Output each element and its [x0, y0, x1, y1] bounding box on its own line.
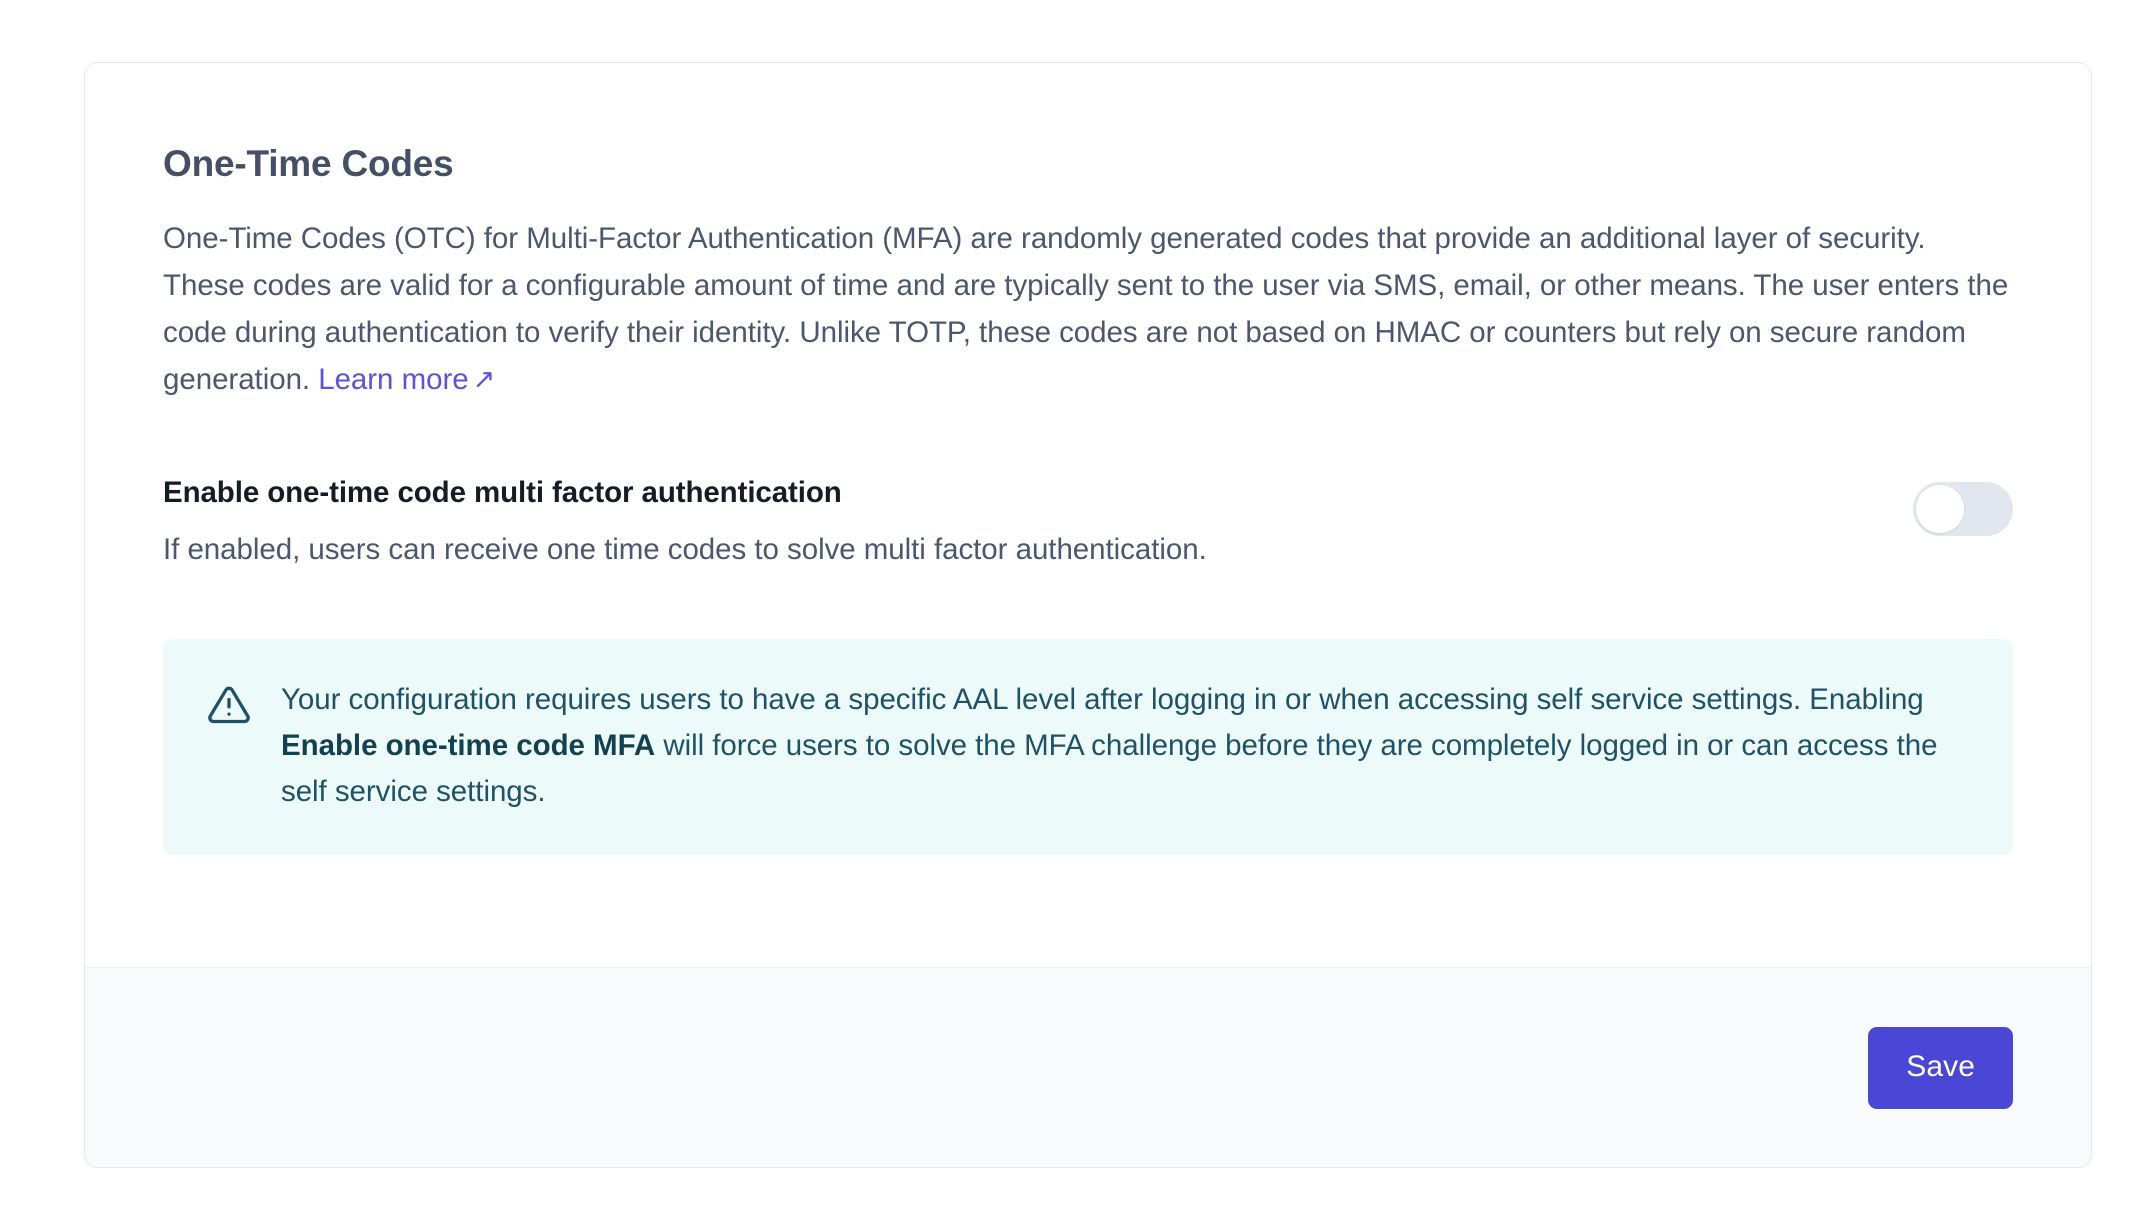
- callout-text: Your configuration requires users to hav…: [281, 677, 1969, 815]
- callout-text-bold: Enable one-time code MFA: [281, 729, 655, 762]
- toggle-sublabel: If enabled, users can receive one time c…: [163, 531, 1853, 569]
- callout-text-part-1: Your configuration requires users to hav…: [281, 683, 1924, 716]
- otc-toggle-row: Enable one-time code multi factor authen…: [163, 474, 2013, 569]
- enable-otc-mfa-toggle[interactable]: [1913, 482, 2013, 536]
- external-link-arrow-icon: ↗: [473, 356, 496, 403]
- card-body: One-Time Codes One-Time Codes (OTC) for …: [85, 63, 2091, 967]
- warning-triangle-icon: [207, 683, 251, 727]
- toggle-knob-icon: [1916, 485, 1964, 533]
- learn-more-link[interactable]: Learn more↗: [318, 363, 495, 396]
- page-title: One-Time Codes: [163, 141, 2013, 187]
- learn-more-label: Learn more: [318, 363, 468, 396]
- settings-card: One-Time Codes One-Time Codes (OTC) for …: [84, 62, 2092, 1168]
- page-root: One-Time Codes One-Time Codes (OTC) for …: [0, 0, 2146, 1218]
- section-description: One-Time Codes (OTC) for Multi-Factor Au…: [163, 215, 2013, 404]
- card-footer: Save: [85, 967, 2091, 1167]
- save-button[interactable]: Save: [1868, 1027, 2013, 1109]
- aal-warning-callout: Your configuration requires users to hav…: [163, 639, 2013, 855]
- toggle-text-group: Enable one-time code multi factor authen…: [163, 474, 1913, 569]
- toggle-label: Enable one-time code multi factor authen…: [163, 474, 1853, 512]
